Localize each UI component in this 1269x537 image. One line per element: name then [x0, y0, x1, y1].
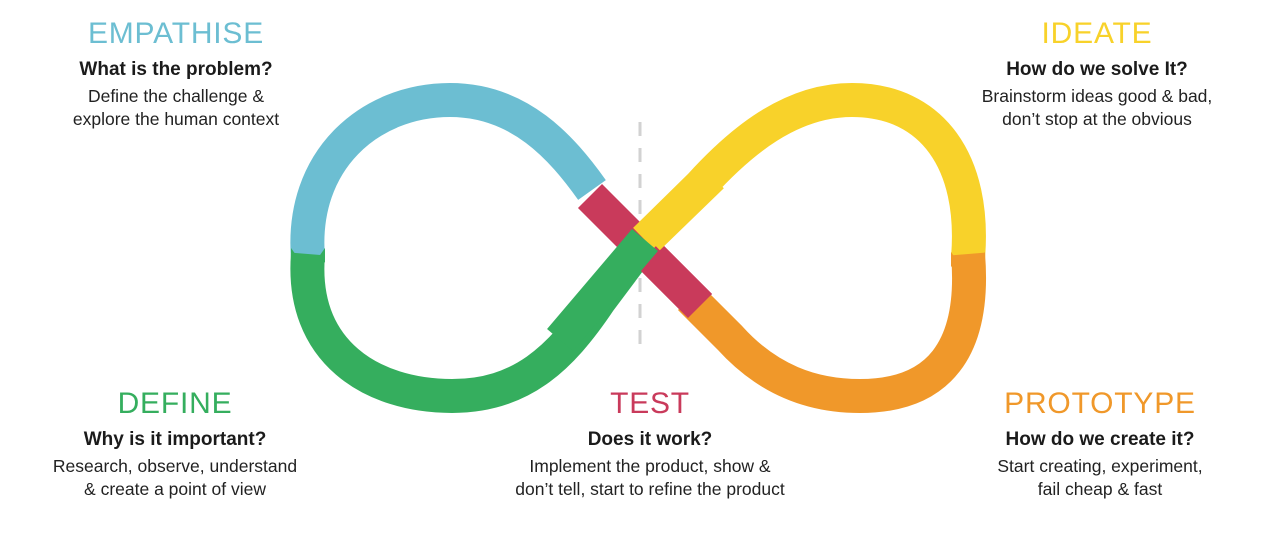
- stage-description-line: Research, observe, understand: [0, 455, 350, 478]
- stage-title-empathise: EMPATHISE: [16, 18, 336, 50]
- stroke-prototype-orange: [690, 254, 969, 396]
- stage-description-test: Implement the product, show & don’t tell…: [440, 455, 860, 502]
- stage-block-ideate: IDEATE How do we solve It? Brainstorm id…: [938, 18, 1256, 131]
- stage-description-prototype: Start creating, experiment, fail cheap &…: [930, 455, 1269, 502]
- stroke-empathise-blue: [307, 100, 592, 258]
- stage-block-prototype: PROTOTYPE How do we create it? Start cre…: [930, 388, 1269, 501]
- stage-description-ideate: Brainstorm ideas good & bad, don’t stop …: [938, 85, 1256, 132]
- stage-block-define: DEFINE Why is it important? Research, ob…: [0, 388, 350, 501]
- stage-description-line: fail cheap & fast: [930, 478, 1269, 501]
- stroke-test-crimson-lower: [648, 254, 700, 306]
- stage-description-line: & create a point of view: [0, 478, 350, 501]
- stage-description-line: Brainstorm ideas good & bad,: [938, 85, 1256, 108]
- stage-question-prototype: How do we create it?: [930, 429, 1269, 451]
- stage-description-line: Start creating, experiment,: [930, 455, 1269, 478]
- stage-title-define: DEFINE: [0, 388, 350, 420]
- stage-description-define: Research, observe, understand & create a…: [0, 455, 350, 502]
- stroke-ideate-yellow-tip: [648, 176, 712, 238]
- stage-description-line: don’t tell, start to refine the product: [440, 478, 860, 501]
- stage-description-line: Define the challenge &: [16, 85, 336, 108]
- stage-description-line: Implement the product, show &: [440, 455, 860, 478]
- stage-question-ideate: How do we solve It?: [938, 59, 1256, 81]
- stage-block-test: TEST Does it work? Implement the product…: [440, 388, 860, 501]
- stage-title-prototype: PROTOTYPE: [930, 388, 1269, 420]
- stage-title-ideate: IDEATE: [938, 18, 1256, 50]
- stage-description-line: explore the human context: [16, 108, 336, 131]
- stage-question-define: Why is it important?: [0, 429, 350, 451]
- stage-block-empathise: EMPATHISE What is the problem? Define th…: [16, 18, 336, 131]
- stage-question-empathise: What is the problem?: [16, 59, 336, 81]
- stage-description-line: don’t stop at the obvious: [938, 108, 1256, 131]
- stage-description-empathise: Define the challenge & explore the human…: [16, 85, 336, 132]
- stage-title-test: TEST: [440, 388, 860, 420]
- diagram-canvas: EMPATHISE What is the problem? Define th…: [0, 0, 1269, 537]
- stage-question-test: Does it work?: [440, 429, 860, 451]
